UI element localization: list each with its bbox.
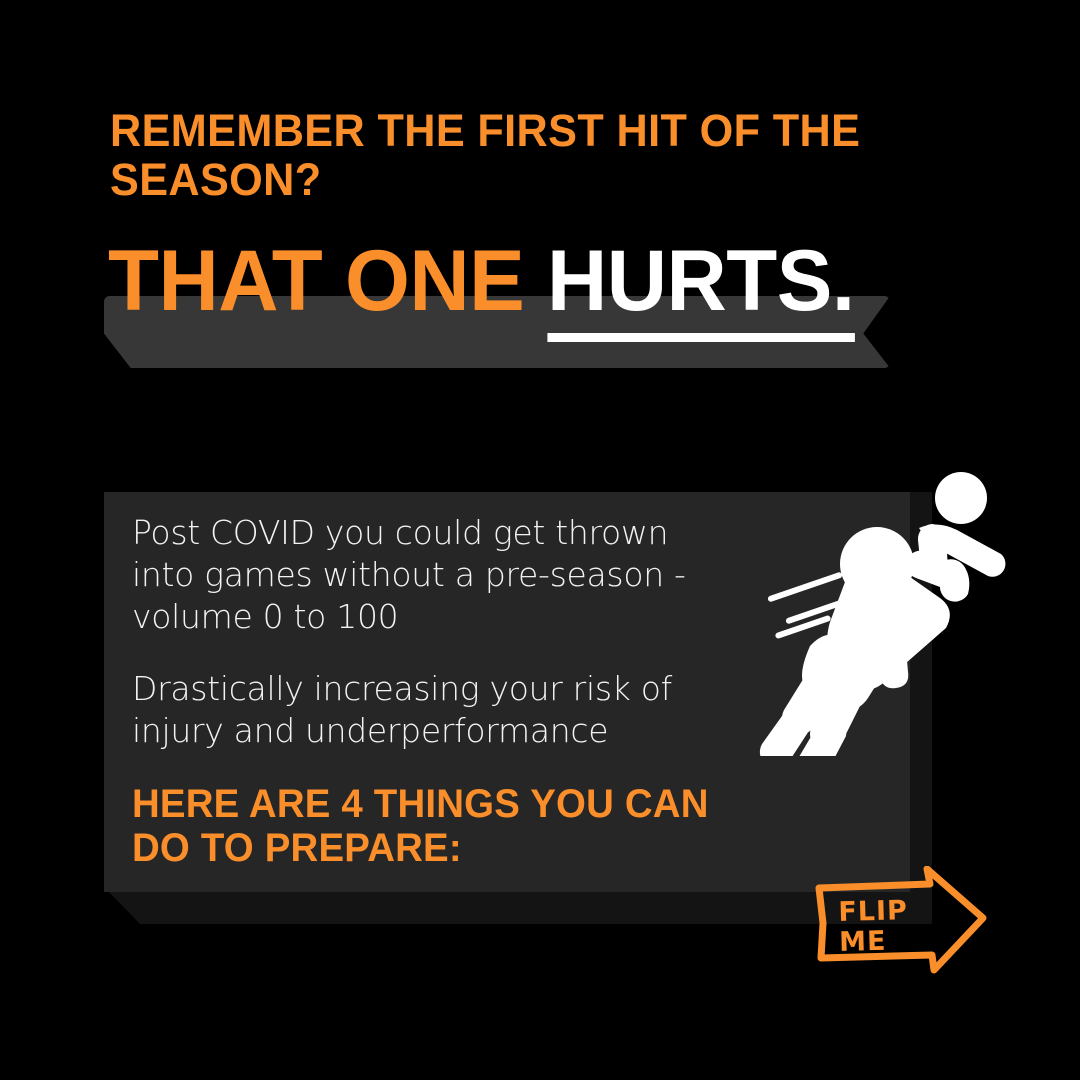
tackled-athlete-icon bbox=[736, 466, 1021, 756]
headline-orange-text: That One bbox=[108, 233, 547, 329]
page-title: That One Hurts. bbox=[108, 238, 855, 324]
eyebrow-headline: Remember the first hit of the season? bbox=[110, 106, 907, 204]
body-paragraph-1: Post COVID you could get thrown into gam… bbox=[132, 512, 717, 638]
poster-canvas: Remember the first hit of the season? Th… bbox=[0, 0, 1080, 1080]
headline-underlined-text: Hurts. bbox=[547, 233, 855, 342]
card-body-copy: Post COVID you could get thrown into gam… bbox=[132, 512, 717, 782]
flip-me-label: Flip me bbox=[838, 895, 960, 958]
cta-heading: Here are 4 things you can do to prepare: bbox=[132, 782, 766, 870]
body-paragraph-2: Drastically increasing your risk of inju… bbox=[132, 668, 717, 752]
